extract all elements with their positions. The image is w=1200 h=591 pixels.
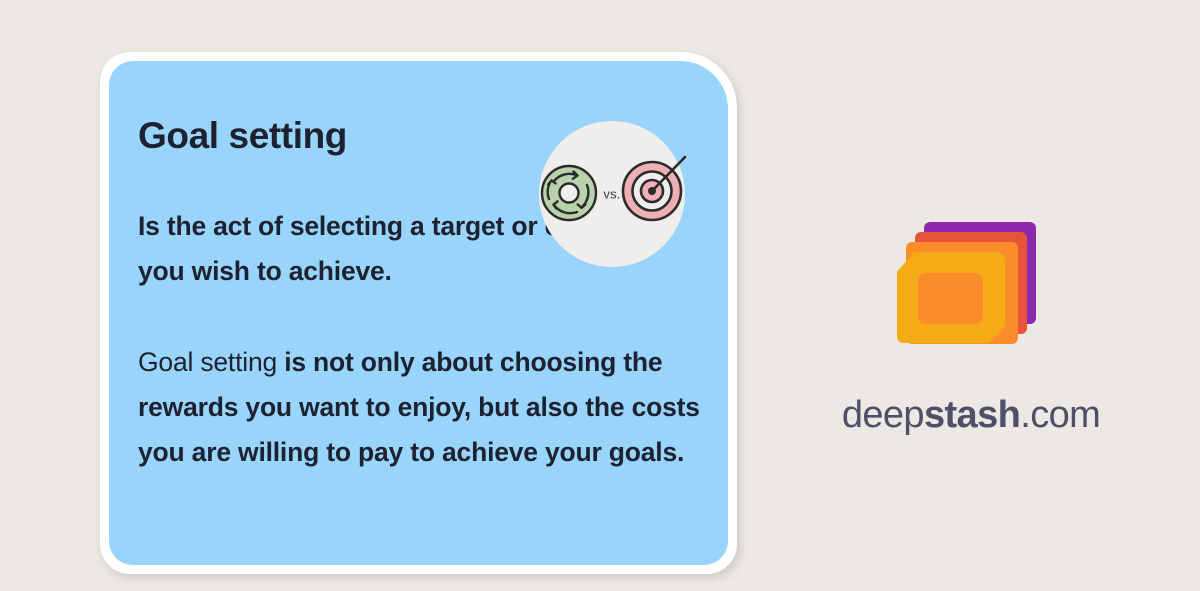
brand-block[interactable]: deepstash.com — [806, 200, 1136, 437]
idea-card-surface: Goal setting Is the act of selecting a t… — [109, 61, 728, 565]
brand-wordmark[interactable]: deepstash.com — [806, 394, 1136, 437]
brand-wordmark-emphasis: stash — [924, 394, 1020, 436]
page-canvas: Goal setting Is the act of selecting a t… — [0, 0, 1200, 591]
deepstash-logo-icon — [889, 200, 1054, 360]
brand-wordmark-prefix: deep — [842, 394, 924, 436]
idea-paragraph-elaboration: Goal setting is not only about choosing … — [138, 340, 710, 475]
process-vs-target-illustration: vs. — [539, 121, 685, 267]
idea-paragraph-elaboration-lead: Goal setting — [138, 347, 284, 377]
cycle-arrows-icon — [542, 166, 596, 220]
versus-label: vs. — [603, 187, 620, 202]
dartboard-target-icon — [623, 157, 685, 220]
brand-wordmark-suffix: .com — [1020, 394, 1100, 436]
idea-card[interactable]: Goal setting Is the act of selecting a t… — [100, 52, 737, 574]
